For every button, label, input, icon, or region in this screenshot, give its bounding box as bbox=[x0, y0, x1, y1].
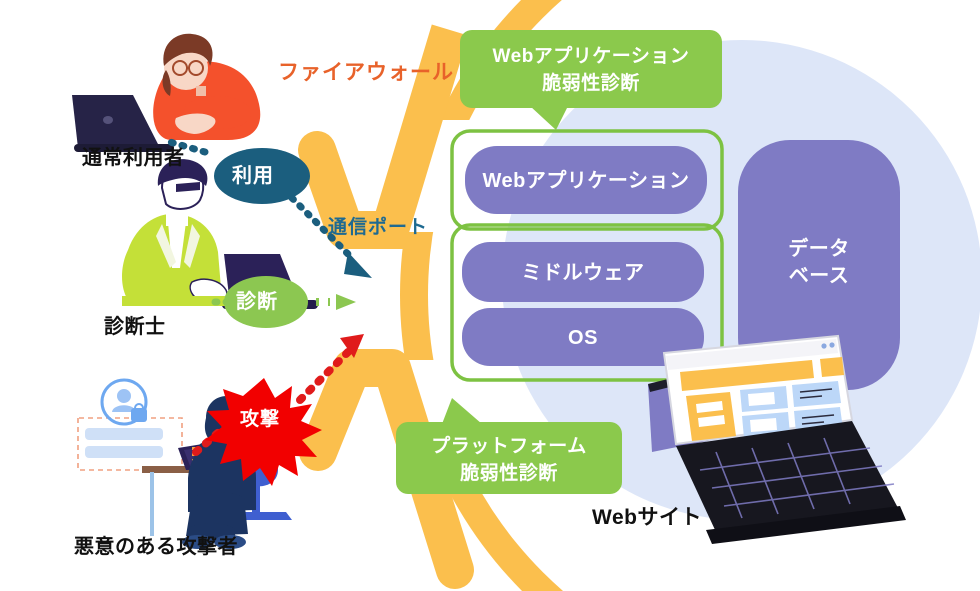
label-communication-port: 通信ポート bbox=[328, 216, 428, 240]
label-website: Webサイト bbox=[592, 505, 702, 531]
pill-label-web-application: Webアプリケーション bbox=[465, 169, 707, 194]
diagnose-badge-label: 診断 bbox=[236, 290, 278, 315]
label-auditor: 診断士 bbox=[104, 315, 166, 340]
diagram-canvas: 通常利用者 診断士 悪意のある攻撃者 ファイアウォール 通信ポート 利用 診断 … bbox=[0, 0, 980, 591]
pill-label-middleware: ミドルウェア bbox=[462, 261, 704, 286]
callout-platform-scan-line2: 脆弱性診断 bbox=[396, 462, 622, 486]
callout-web-app-scan-line2: 脆弱性診断 bbox=[460, 72, 722, 96]
label-normal-user: 通常利用者 bbox=[82, 146, 185, 171]
label-firewall: ファイアウォール bbox=[278, 60, 454, 86]
label-attacker: 悪意のある攻撃者 bbox=[74, 535, 238, 560]
database-label-line1: データ bbox=[738, 236, 900, 263]
attack-badge-label: 攻撃 bbox=[240, 408, 280, 432]
callout-platform-scan-line1: プラットフォーム bbox=[396, 435, 622, 459]
database-label-line2: ベース bbox=[738, 263, 900, 290]
pill-label-os: OS bbox=[462, 326, 704, 351]
callout-web-app-scan-line1: Webアプリケーション bbox=[460, 45, 722, 69]
use-badge-label: 利用 bbox=[232, 164, 274, 189]
